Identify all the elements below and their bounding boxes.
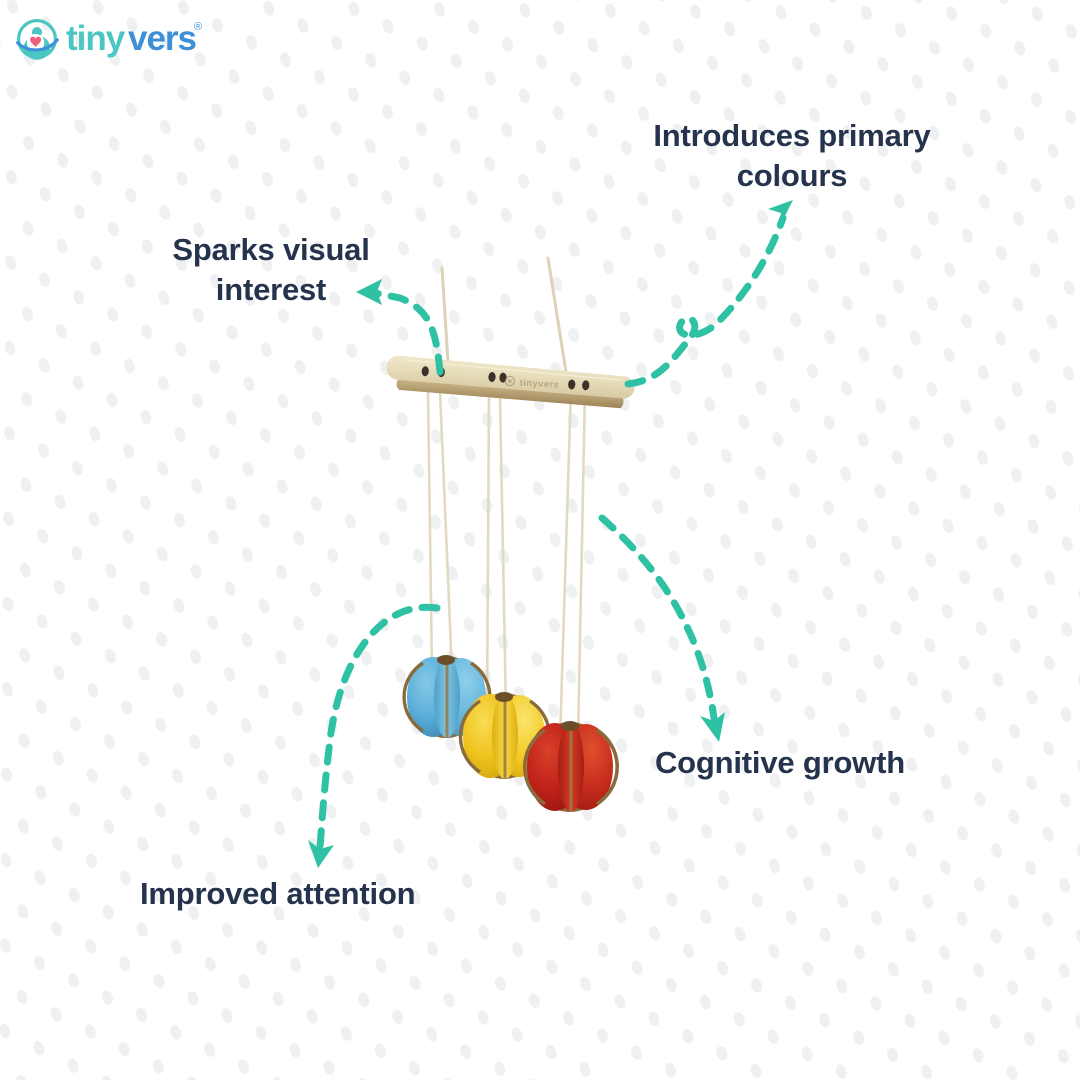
callout-sparks-visual-interest: Sparks visual interest [158,230,384,309]
brand-logo[interactable]: tiny vers ® [14,16,208,62]
infographic-canvas: tiny vers ® [0,0,1080,1080]
arrow-to-visual-interest-path [375,293,440,372]
arrow-to-cognitive-growth-path [602,518,714,718]
callout-improved-attention: Improved attention [140,874,460,914]
callout-cognitive-growth: Cognitive growth [655,743,945,783]
svg-text:vers: vers [128,19,197,58]
tinyvers-globe-heart-logo-icon [14,16,60,62]
svg-text:tiny: tiny [66,19,126,58]
callout-introduces-primary-colours: Introduces primary colours [636,116,948,195]
arrowhead-primary-colours [768,200,793,228]
arrow-to-improved-attention-path [320,607,437,848]
arrow-to-primary-colours-path [628,218,783,384]
tinyvers-wordmark: tiny vers ® [66,16,208,62]
svg-text:®: ® [194,21,202,33]
